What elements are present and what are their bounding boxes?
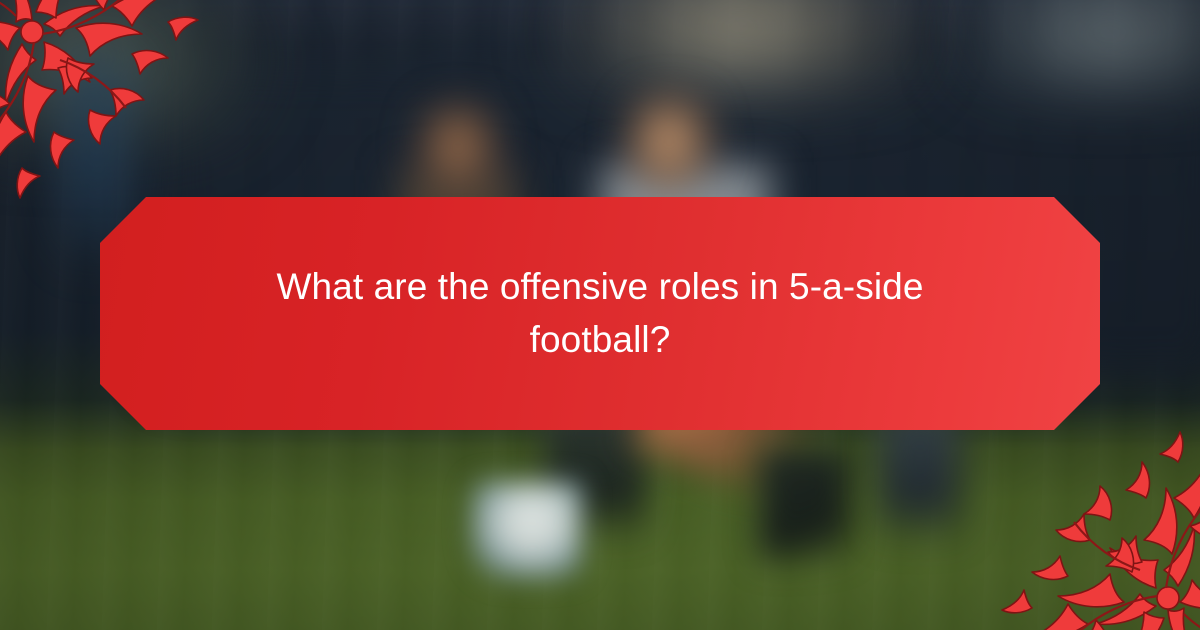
- page-title: What are the offensive roles in 5-a-side…: [220, 261, 980, 366]
- share-card: What are the offensive roles in 5-a-side…: [0, 0, 1200, 630]
- question-banner: What are the offensive roles in 5-a-side…: [100, 197, 1100, 430]
